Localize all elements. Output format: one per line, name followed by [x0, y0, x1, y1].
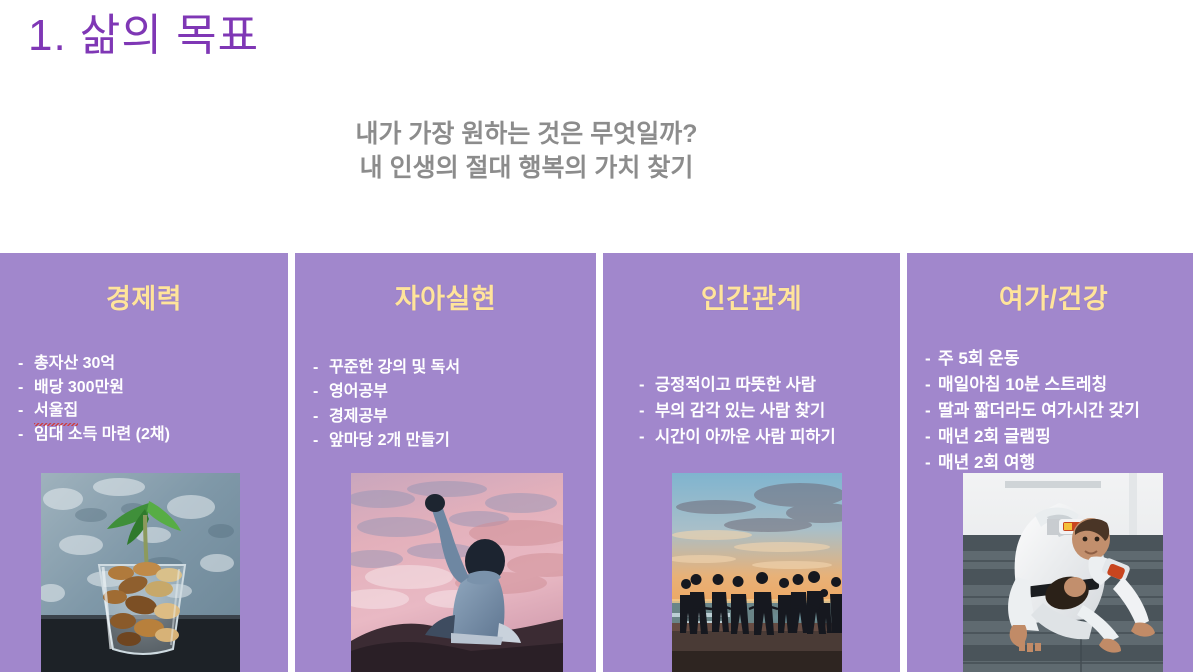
column-bullet-list: -긍정적이고 따뜻한 사람 -부의 감각 있는 사람 찾기 -시간이 아까운 사… [603, 372, 900, 450]
column-heading: 인간관계 [603, 277, 900, 316]
list-item: -총자산 30억 [18, 352, 288, 376]
bullet-marker: - [639, 372, 655, 398]
list-item: -서울집 [18, 399, 288, 423]
subtitle-line-1: 내가 가장 원하는 것은 무엇일까? [0, 118, 1053, 152]
list-item: -꾸준한 강의 및 독서 [313, 356, 596, 380]
two-people-grappling-in-jiujitsu-gi-image [963, 473, 1163, 672]
goal-column-leisure-health: 여가/건강 -주 5회 운동 -매일아침 10분 스트레칭 -딸과 짧더라도 여… [907, 253, 1193, 672]
list-item: -임대 소득 마련 (2채) [18, 423, 288, 447]
bullet-marker: - [18, 423, 34, 447]
bullet-marker: - [313, 380, 329, 404]
column-bullet-list: -꾸준한 강의 및 독서 -영어공부 -경제공부 -앞마당 2개 만들기 [295, 356, 596, 453]
bullet-marker: - [313, 429, 329, 453]
bullet-text: 긍정적이고 따뜻한 사람 [655, 376, 816, 394]
column-heading: 자아실현 [295, 277, 596, 316]
subtitle: 내가 가장 원하는 것은 무엇일까? 내 인생의 절대 행복의 가치 찾기 [0, 118, 1193, 185]
goal-column-relationships: 인간관계 -긍정적이고 따뜻한 사람 -부의 감각 있는 사람 찾기 -시간이 … [603, 253, 900, 672]
column-heading: 경제력 [0, 277, 288, 316]
bullet-text: 임대 소득 마련 (2채) [34, 426, 170, 443]
list-item: -부의 감각 있는 사람 찾기 [639, 398, 900, 424]
bullet-text: 매년 2회 여행 [938, 453, 1035, 472]
bullet-text: 시간이 아까운 사람 피하기 [655, 428, 836, 446]
goal-column-self-realization: 자아실현 -꾸준한 강의 및 독서 -영어공부 -경제공부 -앞마당 2개 만들… [295, 253, 596, 672]
list-item: -딸과 짧더라도 여가시간 갖기 [925, 398, 1193, 424]
subtitle-line-2: 내 인생의 절대 행복의 가치 찾기 [0, 152, 1053, 186]
bullet-text: 딸과 짧더라도 여가시간 갖기 [938, 401, 1140, 420]
bullet-marker: - [925, 372, 938, 398]
coins-in-glass-with-plant-sprout-image [41, 473, 240, 672]
bullet-marker: - [313, 356, 329, 380]
page-title: 1. 삶의 목표 [28, 8, 259, 63]
bullet-marker: - [18, 399, 34, 423]
goal-columns-band: 경제력 -총자산 30억 -배당 300만원 -서울집 -임대 소득 마련 (2… [0, 253, 1193, 672]
list-item: -영어공부 [313, 380, 596, 404]
column-heading: 여가/건강 [907, 277, 1193, 316]
bullet-text: 총자산 30억 [34, 355, 115, 372]
column-bullet-list: -총자산 30억 -배당 300만원 -서울집 -임대 소득 마련 (2채) [0, 352, 288, 446]
bullet-text: 부의 감각 있는 사람 찾기 [655, 402, 825, 420]
bullet-text: 배당 300만원 [34, 379, 124, 396]
bullet-marker: - [639, 424, 655, 450]
bullet-text: 주 5회 운동 [938, 349, 1019, 368]
person-raising-fist-on-mountain-at-sunset-image [351, 473, 563, 672]
bullet-marker: - [18, 352, 34, 376]
bullet-marker: - [313, 405, 329, 429]
bullet-marker: - [925, 450, 938, 476]
list-item: -경제공부 [313, 405, 596, 429]
column-bullet-list: -주 5회 운동 -매일아침 10분 스트레칭 -딸과 짧더라도 여가시간 갖기… [907, 346, 1193, 476]
list-item: -배당 300만원 [18, 376, 288, 400]
bullet-marker: - [925, 346, 938, 372]
list-item: -주 5회 운동 [925, 346, 1193, 372]
bullet-text: 매년 2회 글램핑 [938, 427, 1051, 446]
list-item: -긍정적이고 따뜻한 사람 [639, 372, 900, 398]
bullet-text: 꾸준한 강의 및 독서 [329, 359, 460, 376]
bullet-text: 경제공부 [329, 408, 388, 425]
goal-column-economy: 경제력 -총자산 30억 -배당 300만원 -서울집 -임대 소득 마련 (2… [0, 253, 288, 672]
bullet-marker: - [639, 398, 655, 424]
bullet-text: 앞마당 2개 만들기 [329, 432, 450, 449]
list-item: -매일아침 10분 스트레칭 [925, 372, 1193, 398]
list-item: -앞마당 2개 만들기 [313, 429, 596, 453]
list-item: -시간이 아까운 사람 피하기 [639, 424, 900, 450]
list-item: -매년 2회 글램핑 [925, 424, 1193, 450]
bullet-text: 매일아침 10분 스트레칭 [938, 375, 1107, 394]
bullet-marker: - [925, 424, 938, 450]
bullet-marker: - [925, 398, 938, 424]
bullet-marker: - [18, 376, 34, 400]
group-holding-hands-on-beach-at-sunset-image [672, 473, 842, 672]
bullet-text: 영어공부 [329, 383, 388, 400]
bullet-text-misspelled: 서울집 [34, 399, 78, 423]
